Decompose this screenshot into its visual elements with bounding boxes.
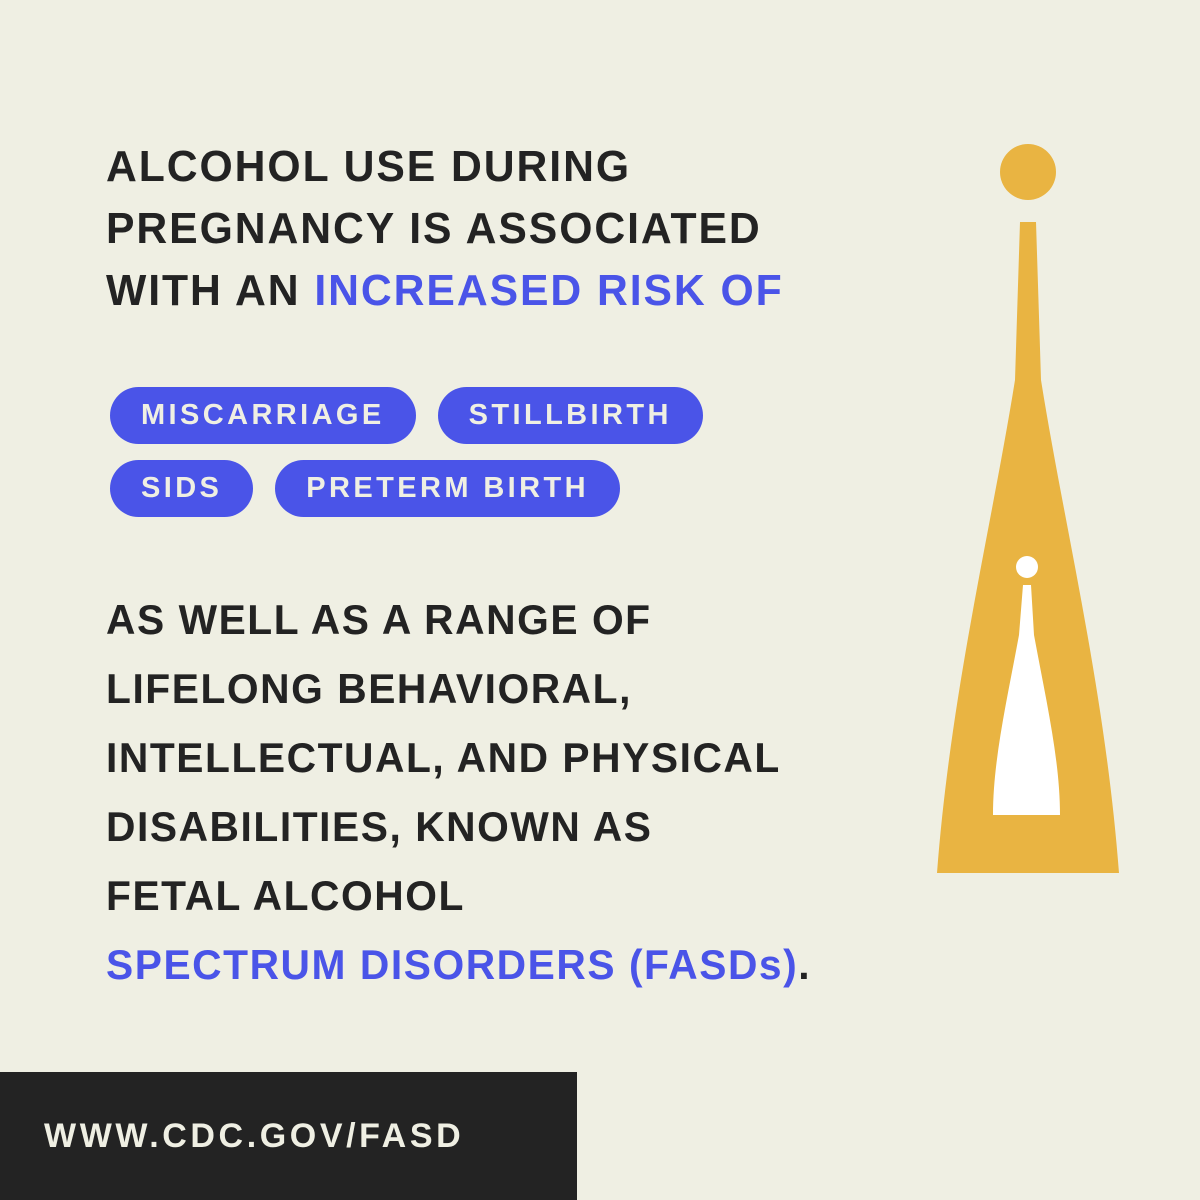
body-line-3: INTELLECTUAL, AND PHYSICAL (106, 723, 998, 792)
body-line-1: AS WELL AS A RANGE OF (106, 585, 998, 654)
risk-pill-stillbirth[interactable]: STILLBIRTH (438, 387, 703, 444)
body-line-6-accent: SPECTRUM DISORDERS (FASDs) (106, 941, 798, 988)
headline-line-3-plain: WITH AN (106, 266, 314, 315)
footer-url-bar: WWW.CDC.GOV/FASD (0, 1072, 577, 1200)
headline-line-3: WITH AN INCREASED RISK OF (106, 260, 911, 322)
body-line-4: DISABILITIES, KNOWN AS (106, 792, 998, 861)
headline: ALCOHOL USE DURING PREGNANCY IS ASSOCIAT… (106, 136, 936, 322)
footer-url-text[interactable]: WWW.CDC.GOV/FASD (44, 1117, 464, 1156)
inner-bottle-cap-icon (1016, 556, 1038, 578)
body-line-5: FETAL ALCOHOL (106, 861, 998, 930)
risk-pill-sids[interactable]: SIDS (110, 460, 253, 517)
headline-line-1: ALCOHOL USE DURING (106, 136, 911, 198)
alcohol-bottle-illustration (925, 130, 1135, 885)
headline-line-2: PREGNANCY IS ASSOCIATED (106, 198, 911, 260)
body-line-2: LIFELONG BEHAVIORAL, (106, 654, 998, 723)
risk-pill-preterm-birth[interactable]: PRETERM BIRTH (275, 460, 620, 517)
infographic-poster: ALCOHOL USE DURING PREGNANCY IS ASSOCIAT… (0, 0, 1200, 1200)
risk-pill-row-2: SIDS PRETERM BIRTH (110, 460, 910, 517)
headline-line-3-accent: INCREASED RISK OF (314, 266, 783, 315)
body-line-6-period: . (798, 941, 811, 988)
risk-pill-row-1: MISCARRIAGE STILLBIRTH (110, 387, 910, 444)
body-line-6: SPECTRUM DISORDERS (FASDs). (106, 930, 998, 999)
bottle-cap-icon (1000, 144, 1056, 200)
risk-pill-group: MISCARRIAGE STILLBIRTH SIDS PRETERM BIRT… (110, 387, 910, 533)
body-text: AS WELL AS A RANGE OF LIFELONG BEHAVIORA… (106, 585, 1026, 999)
risk-pill-miscarriage[interactable]: MISCARRIAGE (110, 387, 416, 444)
